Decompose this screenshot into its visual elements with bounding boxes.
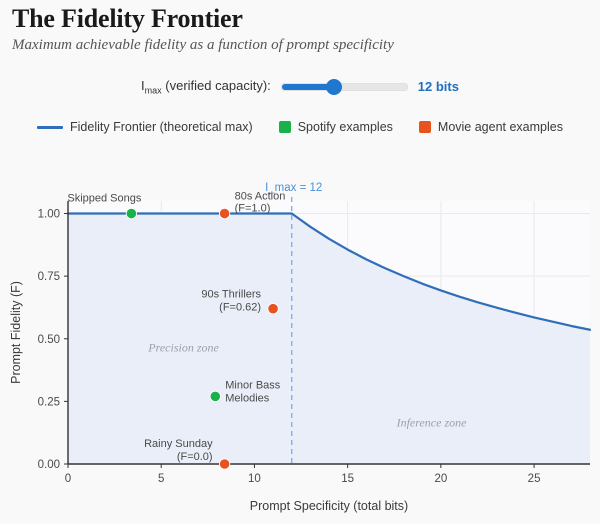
legend-item-movie[interactable]: Movie agent examples	[419, 120, 563, 134]
datapoint-80s-action[interactable]	[219, 208, 229, 218]
legend-label-frontier: Fidelity Frontier (theoretical max)	[70, 120, 253, 134]
datapoint-rainy-sunday[interactable]	[219, 459, 229, 469]
legend-label-spotify: Spotify examples	[298, 120, 393, 134]
line-marker-icon	[37, 126, 63, 129]
imax-subscript: max	[145, 86, 162, 96]
page-subtitle: Maximum achievable fidelity as a functio…	[12, 37, 394, 54]
legend-item-frontier[interactable]: Fidelity Frontier (theoretical max)	[37, 120, 253, 134]
imax-value-text: 12 bits	[418, 79, 459, 94]
fidelity-frontier-chart: 05101520250.000.250.500.751.00Prompt Spe…	[0, 150, 600, 524]
chart-legend: Fidelity Frontier (theoretical max) Spot…	[0, 120, 600, 134]
y-tick-label: 0.50	[38, 334, 60, 346]
y-axis-title: Prompt Fidelity (F)	[9, 281, 23, 384]
x-tick-label: 0	[65, 473, 71, 485]
label-minor-bass-line1: Minor Bass	[225, 379, 281, 391]
precision-zone-label: Precision zone	[147, 340, 219, 354]
inference-zone-label: Inference zone	[396, 415, 468, 429]
label-minor-bass-line2: Melodies	[225, 392, 270, 404]
x-tick-label: 25	[528, 473, 541, 485]
label-skipped-songs: Skipped Songs	[67, 193, 141, 205]
datapoint-minor-bass-melodies[interactable]	[210, 391, 220, 401]
x-tick-label: 20	[434, 473, 447, 485]
label-80s-action-line1: 80s Action	[235, 191, 286, 203]
imax-slider[interactable]	[281, 83, 408, 91]
x-tick-label: 15	[341, 473, 354, 485]
imax-control-row: Imax (verified capacity): 12 bits	[0, 78, 600, 96]
y-tick-label: 0.25	[38, 396, 60, 408]
label-90s-thrillers-line2: (F=0.62)	[219, 302, 261, 314]
y-tick-label: 1.00	[38, 209, 60, 221]
datapoint-skipped-songs[interactable]	[126, 208, 136, 218]
square-marker-icon	[419, 121, 431, 133]
x-axis-title: Prompt Specificity (total bits)	[250, 499, 408, 513]
label-80s-action-line2: (F=1.0)	[235, 203, 271, 215]
x-tick-label: 10	[248, 473, 261, 485]
imax-slider-thumb[interactable]	[326, 79, 342, 95]
y-tick-label: 0.00	[38, 459, 60, 471]
imax-label-rest: (verified capacity):	[162, 78, 271, 93]
label-90s-thrillers-line1: 90s Thrillers	[201, 289, 261, 301]
square-marker-icon	[279, 121, 291, 133]
page-title: The Fidelity Frontier	[12, 4, 243, 34]
x-tick-label: 5	[158, 473, 164, 485]
datapoint-90s-thrillers[interactable]	[268, 304, 278, 314]
label-rainy-sunday-line1: Rainy Sunday	[144, 438, 213, 450]
chart-plot-area: 05101520250.000.250.500.751.00Prompt Spe…	[0, 150, 600, 524]
label-rainy-sunday-line2: (F=0.0)	[177, 451, 213, 463]
legend-item-spotify[interactable]: Spotify examples	[279, 120, 393, 134]
legend-label-movie: Movie agent examples	[438, 120, 563, 134]
imax-slider-label: Imax (verified capacity):	[141, 78, 271, 96]
y-tick-label: 0.75	[38, 271, 60, 283]
